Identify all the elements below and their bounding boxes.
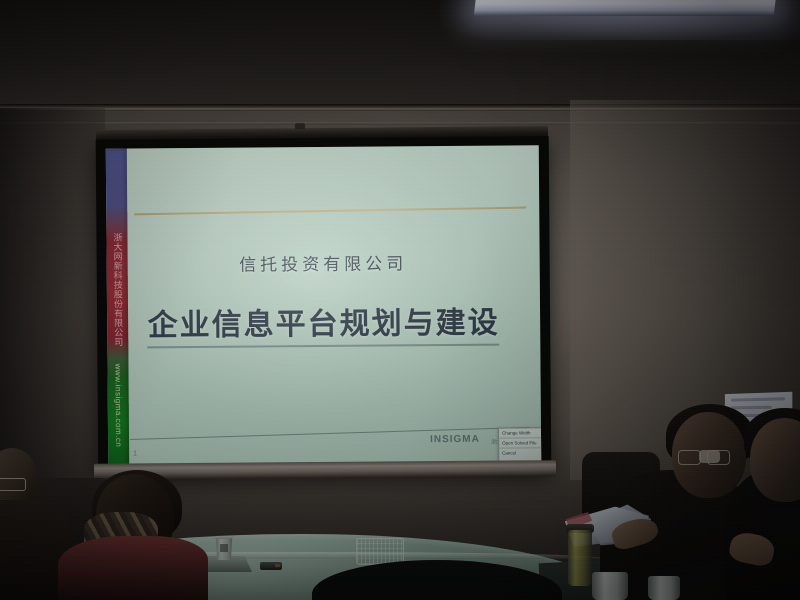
- person-left-woman-body: [58, 536, 208, 600]
- white-cup-2: [648, 576, 680, 600]
- paper-coffee-cup: [214, 536, 234, 560]
- popup-row-1[interactable]: Change Width: [499, 428, 541, 438]
- slide-title-underline: [147, 344, 499, 349]
- remote-control: [260, 562, 282, 570]
- glasses-icon: [0, 478, 26, 491]
- slide-accent-rule: [134, 207, 526, 216]
- slide-subtitle: 信托投资有限公司: [107, 248, 540, 276]
- side-band-url-text: www.insigma.com.cn: [109, 364, 127, 464]
- slide-page-number: 1: [133, 450, 137, 457]
- projection-screen: 浙大网新科技股份有限公司 www.insigma.com.cn 信托投资有限公司…: [96, 136, 552, 476]
- conference-room-scene: 浙大网新科技股份有限公司 www.insigma.com.cn 信托投资有限公司…: [0, 0, 800, 600]
- white-cup-1: [592, 572, 628, 600]
- insigma-logo-text: INSIGMA: [430, 434, 480, 445]
- presentation-slide: 浙大网新科技股份有限公司 www.insigma.com.cn 信托投资有限公司…: [106, 145, 541, 466]
- popup-row-3[interactable]: Cancel: [499, 448, 541, 457]
- person-far-right-head: [750, 418, 800, 502]
- tea-jar: [568, 530, 592, 586]
- slide-title: 企业信息平台规划与建设: [107, 297, 540, 344]
- popup-row-2[interactable]: Open Solved File: [499, 438, 541, 448]
- ceiling-light: [474, 0, 777, 16]
- glasses-icon: [678, 450, 730, 464]
